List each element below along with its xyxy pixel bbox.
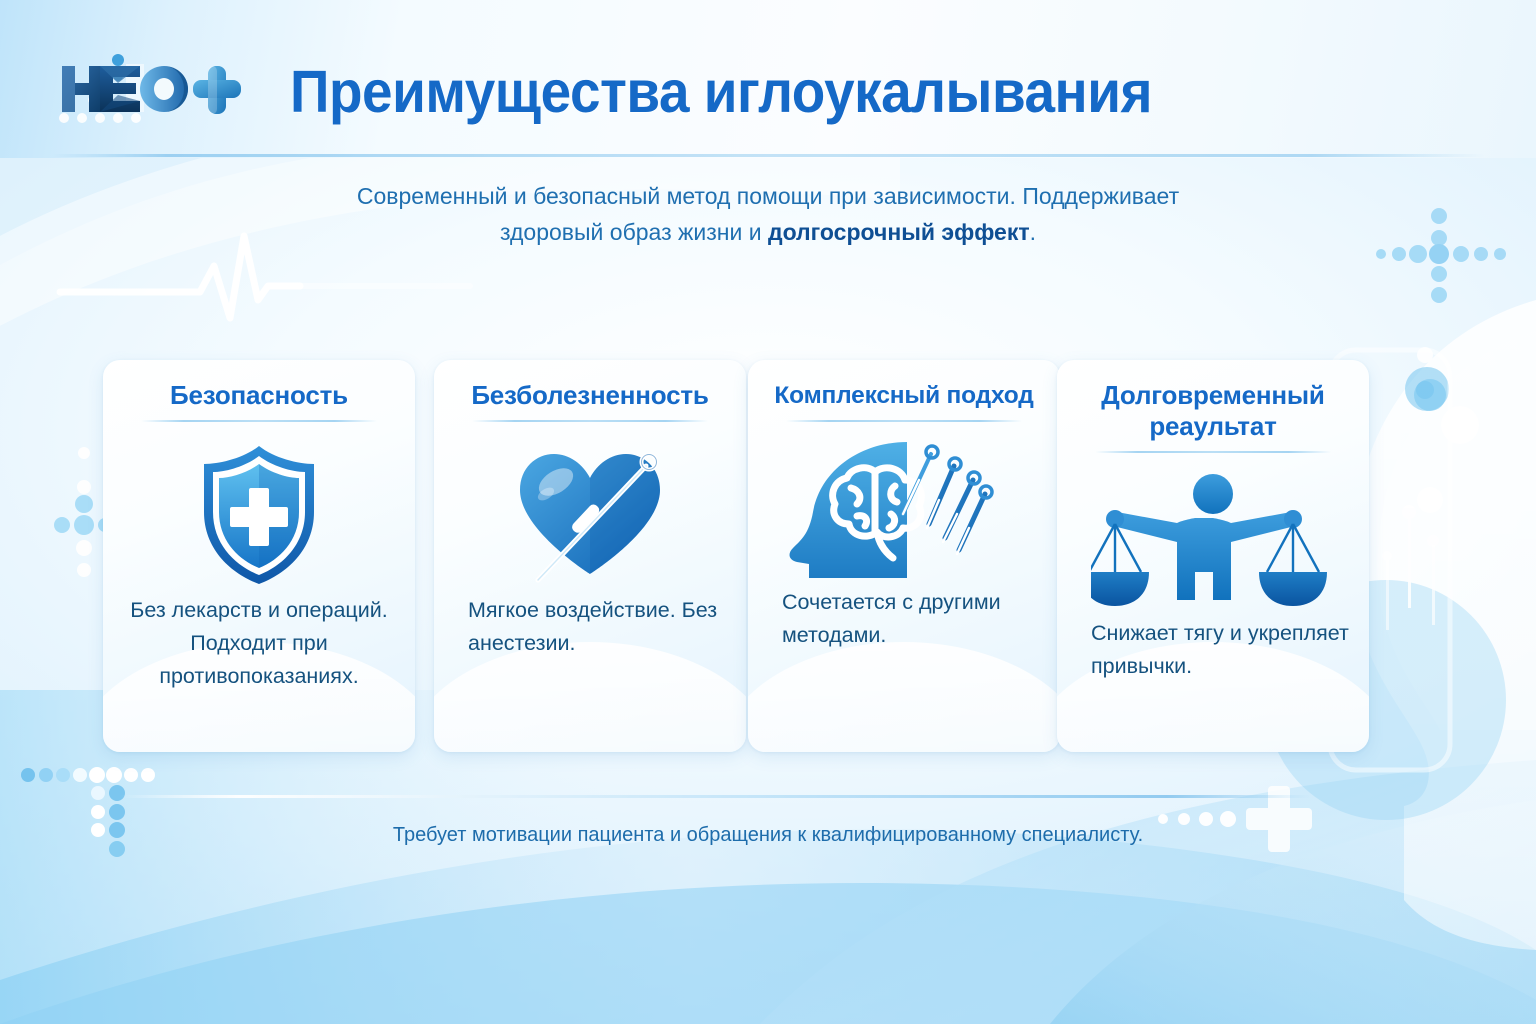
benefit-card-safety[interactable]: Безопасность [103,360,415,752]
title-divider [141,420,376,422]
card-body: Мягкое воздействие. Без анестезии. [434,594,746,660]
title-divider [472,420,707,422]
person-scales-icon [1091,468,1335,608]
head-brain-needles-icon [779,428,1029,586]
subtitle-line-2-end: . [1030,219,1036,245]
benefit-card-complex-approach[interactable]: Комплексный подход [748,360,1060,752]
subtitle-highlight: долгосрочный эффект [768,219,1030,245]
card-header: Безболезненность [434,360,746,422]
card-header: Комплексный подход [748,360,1060,422]
infographic-canvas: Преимущества иглоукалывания Современный … [0,0,1536,1024]
header-divider [52,154,1484,157]
benefit-card-list: Безопасность [0,360,1536,760]
card-title: Долговременный реаультат [1073,380,1353,442]
title-divider [786,420,1021,422]
brand-logo-neo-plus [48,46,268,128]
heart-needle-icon [506,440,674,590]
page-title: Преимущества иглоукалывания [290,58,1152,126]
title-divider [1095,451,1330,453]
card-title: Комплексный подход [764,380,1044,411]
card-icon-slot [748,428,1060,586]
page-subtitle: Современный и безопасный метод помощи пр… [268,178,1268,250]
benefit-card-long-term-result[interactable]: Долговременный реаультат [1057,360,1369,752]
card-icon-slot [434,436,746,594]
card-icon-slot [1057,459,1369,617]
footer-note: Требует мотивации пациента и обращения к… [0,824,1536,847]
card-icon-slot [103,436,415,594]
card-body: Без лекарств и операций. Подходит при пр… [103,594,415,693]
shield-cross-icon [194,442,324,588]
benefit-card-painless[interactable]: Безболезненность [434,360,746,752]
card-body: Снижает тягу и укрепляет привычки. [1057,617,1369,683]
card-title: Безболезненность [450,380,730,411]
footer-divider [120,795,1310,798]
subtitle-line-2-plain: здоровый образ жизни и [500,219,768,245]
card-header: Долговременный реаультат [1057,360,1369,453]
card-title: Безопасность [119,380,399,411]
card-body: Сочетается с другими методами. [748,586,1060,652]
subtitle-line-1: Современный и безопасный метод помощи пр… [357,183,1179,209]
card-header: Безопасность [103,360,415,422]
